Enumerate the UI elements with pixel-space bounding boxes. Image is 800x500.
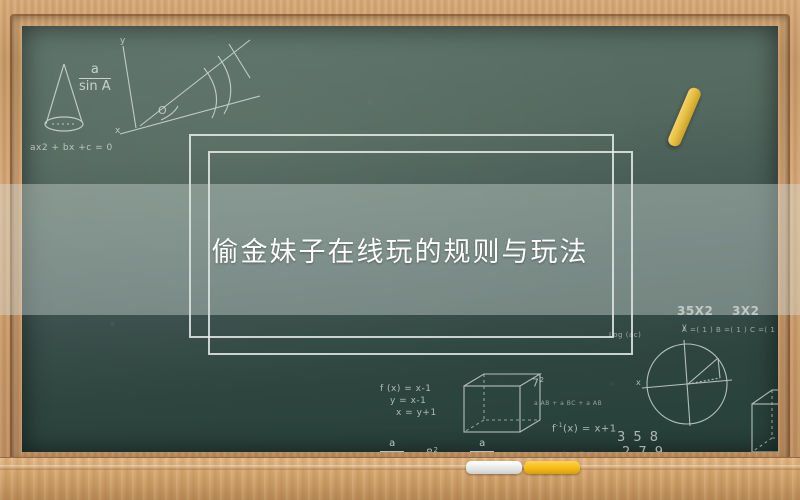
page-title: 偷金妹子在线玩的规则与玩法	[0, 184, 800, 315]
power-seven-base: 7	[532, 377, 540, 390]
chalk-ledge-lip	[0, 465, 800, 470]
matrix-expression: A =( 1 ) B =( 1 ) C =( 1 )	[682, 326, 778, 334]
yellow-chalk-stick	[524, 461, 580, 474]
power-eight: 82	[426, 446, 438, 452]
inverse-fn-tail: (x) = x+1	[563, 423, 617, 434]
white-chalk-stick	[466, 461, 522, 474]
set-expression: a AB + a BC + a AB	[534, 400, 602, 407]
log-bc-note: a log (bc)	[556, 451, 594, 452]
circle-axis-label-y: y	[682, 322, 687, 331]
log-ac-note: Log (ac)	[609, 331, 641, 339]
fraction-bottom-center: a sin A	[470, 439, 494, 452]
function-line-2: y = x-1	[390, 396, 426, 406]
inverse-function: f-1(x) = x+1	[552, 422, 617, 434]
axis-label-y: y	[120, 36, 126, 46]
fraction-bc-numerator: a	[470, 439, 494, 450]
axis-label-x: x	[115, 126, 121, 136]
sum-row-1: 3 5 8	[617, 430, 660, 445]
power-seven: 72	[532, 376, 544, 390]
fraction-numerator: a	[79, 63, 111, 77]
circle-axes-diagram	[632, 322, 752, 447]
power-eight-base: 8	[426, 447, 434, 452]
quadratic-equation: ax2 + bx +c = 0	[30, 143, 113, 153]
circle-axis-label-x: x	[636, 378, 641, 387]
chalk-ledge	[0, 457, 800, 500]
function-line-1: f (x) = x-1	[380, 384, 431, 394]
sum-row-2: 2 7 9	[622, 445, 665, 452]
function-line-3: x = y+1	[396, 408, 437, 418]
angle-label-o: O	[158, 104, 167, 117]
fraction-bottom-left: a sin A	[380, 439, 404, 452]
chalkboard-banner: a sin A ax2 + bx +c = 0 y x O f (x) = x-…	[0, 0, 800, 500]
fraction-denominator: sin A	[79, 80, 111, 94]
inverse-fn-exponent: -1	[556, 422, 563, 429]
fraction-bl-numerator: a	[380, 439, 404, 450]
cube-diagram-right	[734, 386, 778, 452]
fraction-a-over-sinA: a sin A	[79, 63, 111, 93]
power-seven-exponent: 2	[540, 376, 545, 384]
power-eight-exponent: 2	[434, 446, 439, 452]
